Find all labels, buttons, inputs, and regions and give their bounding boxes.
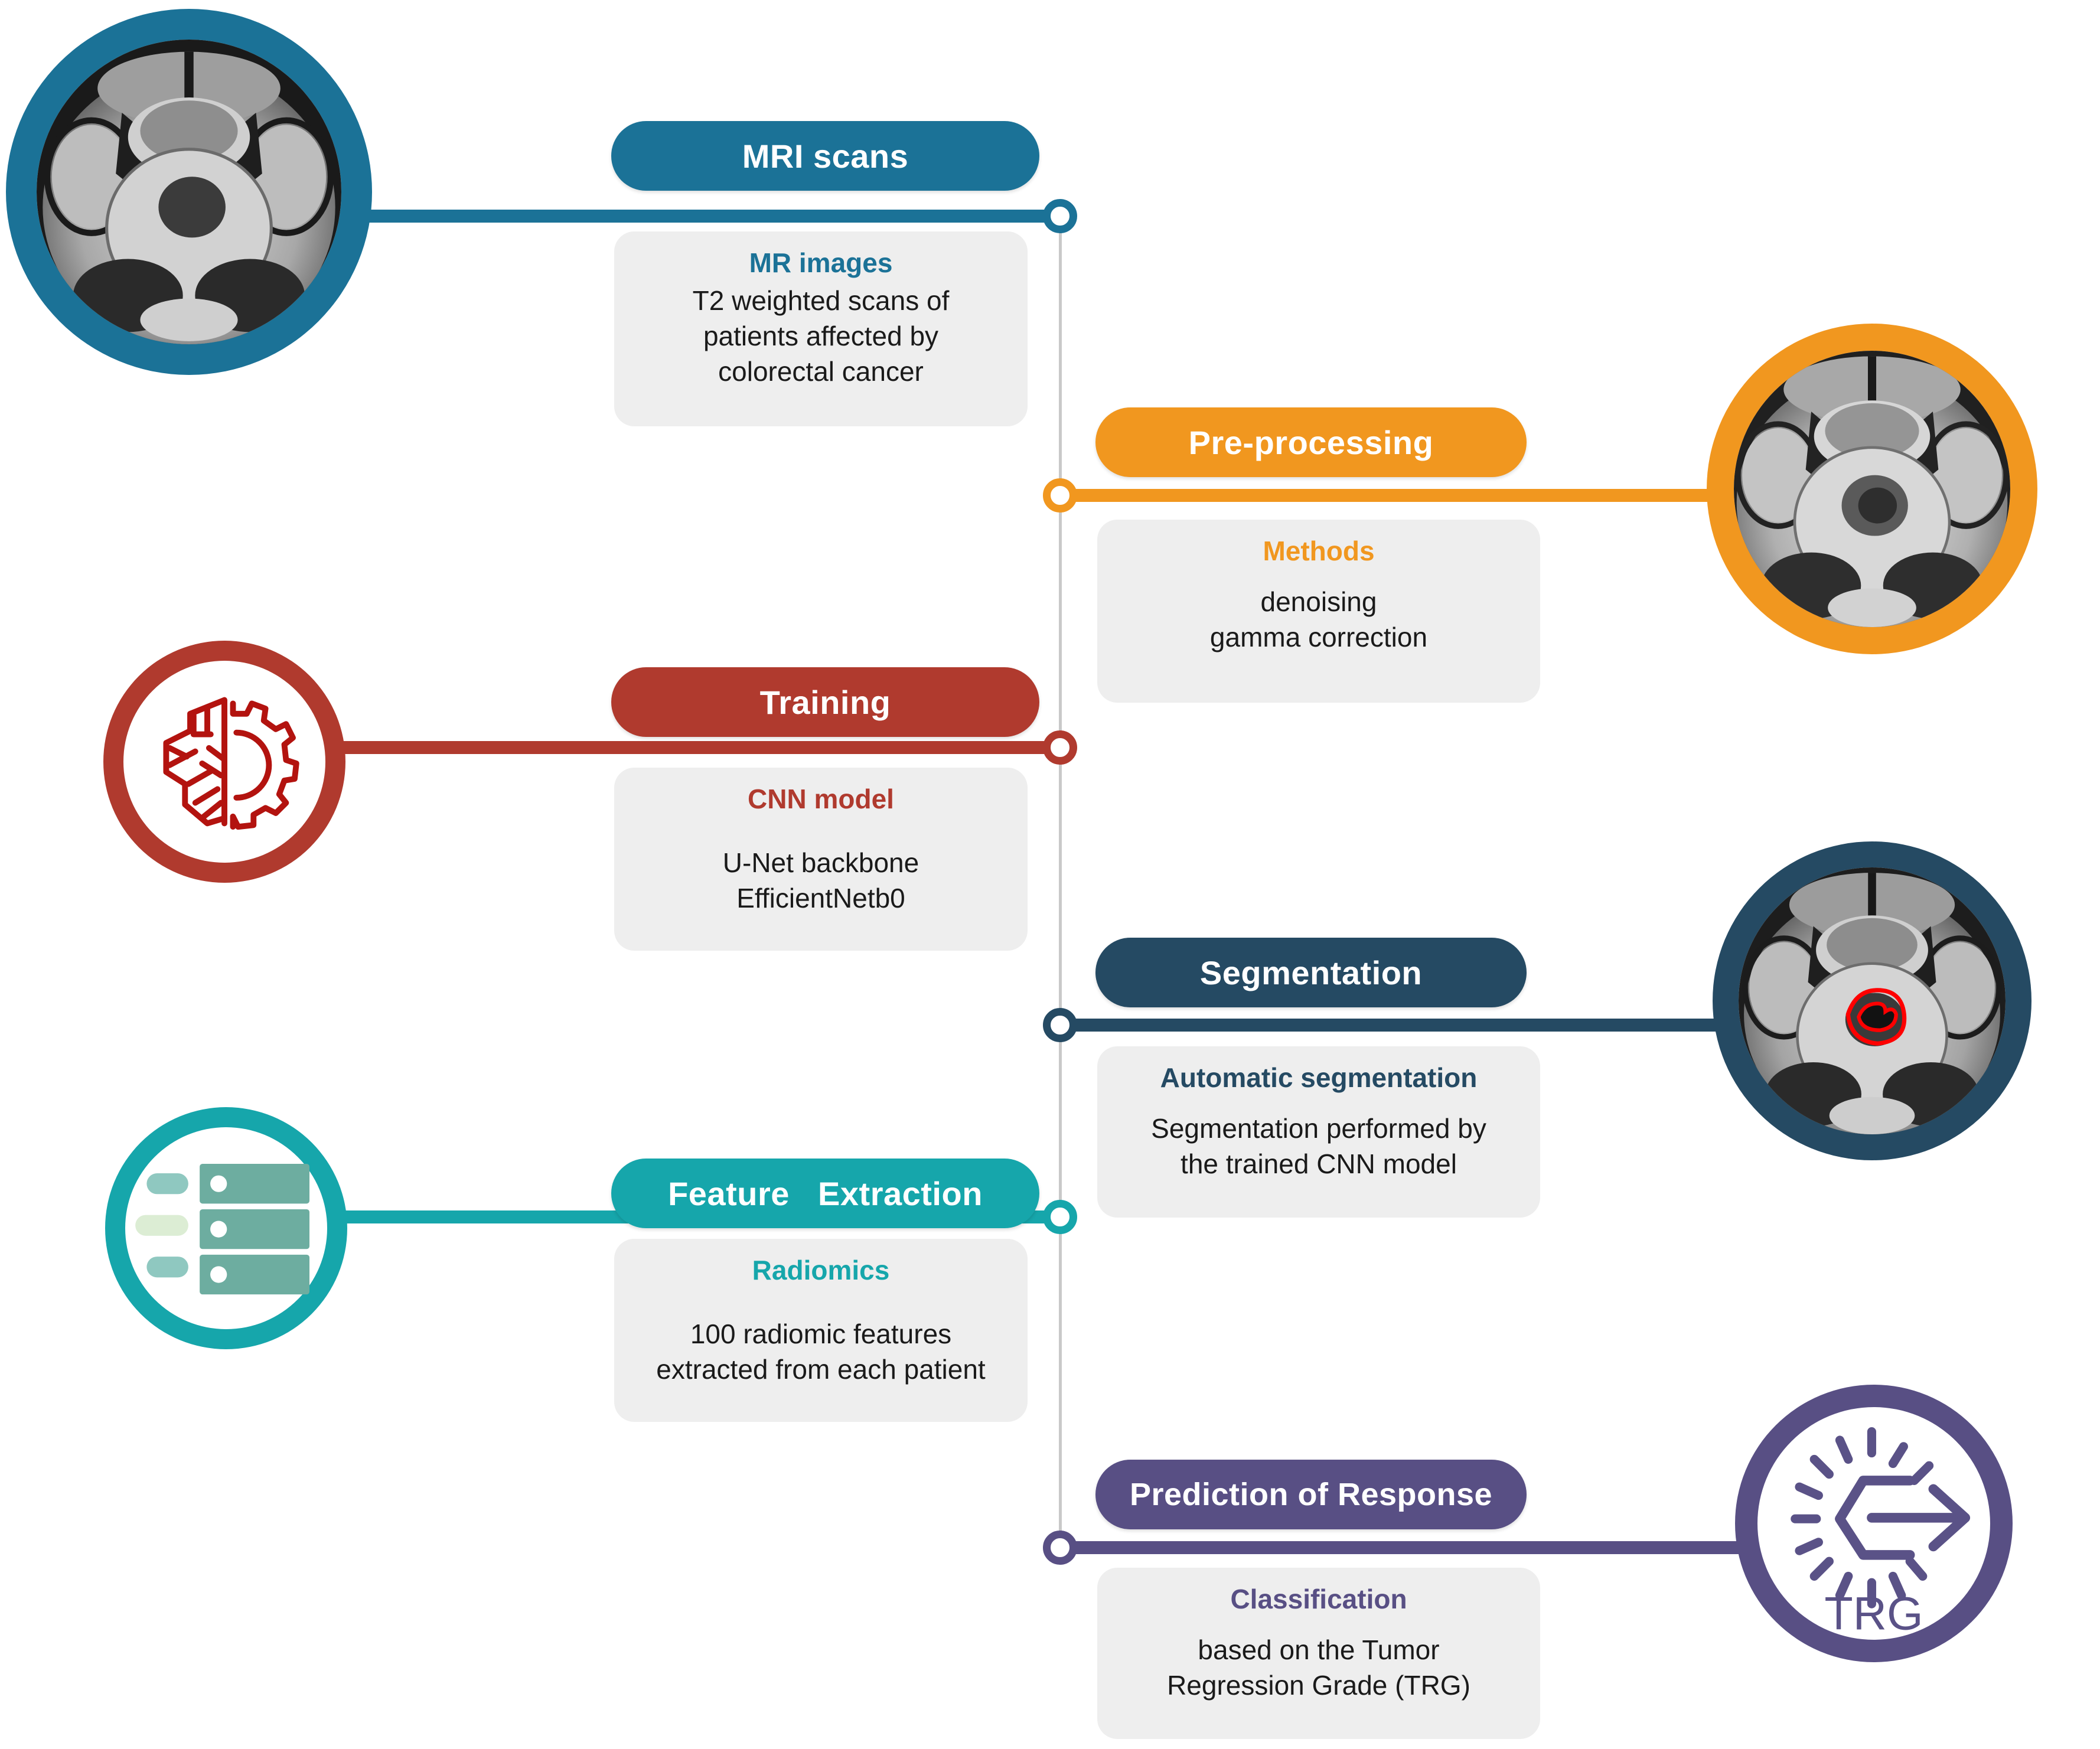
connector-line-prediction-of-response [1060, 1541, 1745, 1554]
stage-card-mri-scans: MR images T2 weighted scans of patients … [614, 231, 1028, 426]
connector-line-mri-scans [366, 210, 1063, 223]
stage-card-segmentation: Automatic segmentation Segmentation perf… [1097, 1046, 1540, 1218]
mri-axial-pelvis-image [37, 40, 341, 344]
timeline-node-pre-processing[interactable] [1043, 478, 1077, 513]
trg-prediction-circle: TRG [1735, 1385, 2013, 1662]
card-body: Segmentation performed by the trained CN… [1151, 1111, 1486, 1182]
stage-pill-segmentation[interactable]: Segmentation [1095, 938, 1527, 1007]
card-body: U-Net backbone EfficientNetb0 [723, 846, 919, 916]
card-title: CNN model [748, 783, 894, 815]
stage-pill-label: Pre-processing [1189, 423, 1434, 462]
feature-list-icon [131, 1154, 321, 1302]
card-title: Automatic segmentation [1160, 1062, 1478, 1094]
stage-card-prediction-of-response: Classification based on the Tumor Regres… [1097, 1568, 1540, 1739]
card-body: 100 radiomic features extracted from eac… [656, 1317, 985, 1388]
brain-gear-circle [103, 641, 345, 883]
stage-pill-label: Prediction of Response [1130, 1476, 1492, 1513]
card-title: Classification [1230, 1583, 1407, 1615]
stage-card-feature-extraction: Radiomics 100 radiomic features extracte… [614, 1239, 1028, 1422]
timeline-spine [1059, 213, 1062, 1547]
segmented-tumor-circle [1713, 841, 2031, 1160]
mri-axial-pelvis-segmented-image [1739, 867, 2006, 1134]
stage-pill-feature-extraction[interactable]: Feature Extraction [611, 1159, 1039, 1228]
trg-prediction-icon: TRG [1766, 1419, 1982, 1631]
connector-line-segmentation [1060, 1019, 1721, 1032]
card-body: based on the Tumor Regression Grade (TRG… [1167, 1633, 1470, 1704]
trg-icon-label: TRG [1824, 1587, 1923, 1631]
stage-pill-label: MRI scans [742, 137, 909, 175]
timeline-node-segmentation[interactable] [1043, 1008, 1077, 1042]
stage-card-training: CNN model U-Net backbone EfficientNetb0 [614, 768, 1028, 951]
stage-pill-training[interactable]: Training [611, 667, 1039, 737]
connector-line-training [331, 741, 1063, 754]
stage-pill-prediction-of-response[interactable]: Prediction of Response [1095, 1460, 1527, 1529]
feature-list-circle [105, 1107, 347, 1349]
card-title: Radiomics [752, 1254, 890, 1286]
stage-pill-mri-scans[interactable]: MRI scans [611, 121, 1039, 191]
mri-scan-circle [6, 9, 372, 375]
stage-pill-label: Training [760, 683, 891, 722]
preprocessed-mri-circle [1707, 324, 2037, 654]
stage-pill-pre-processing[interactable]: Pre-processing [1095, 407, 1527, 477]
card-body: T2 weighted scans of patients affected b… [693, 283, 950, 389]
stage-card-pre-processing: Methods denoising gamma correction [1097, 520, 1540, 703]
brain-gear-icon [139, 676, 310, 847]
stage-pill-label: Segmentation [1200, 954, 1422, 992]
mri-axial-pelvis-image [1734, 351, 2010, 627]
connector-line-pre-processing [1060, 489, 1716, 502]
timeline-node-training[interactable] [1043, 730, 1077, 765]
timeline-node-prediction-of-response[interactable] [1043, 1531, 1077, 1565]
card-body: denoising gamma correction [1210, 585, 1427, 655]
stage-pill-label: Feature Extraction [668, 1174, 983, 1213]
card-title: MR images [749, 247, 893, 279]
card-title: Methods [1263, 535, 1374, 567]
timeline-node-feature-extraction[interactable] [1043, 1200, 1077, 1234]
timeline-node-mri-scans[interactable] [1043, 199, 1077, 233]
